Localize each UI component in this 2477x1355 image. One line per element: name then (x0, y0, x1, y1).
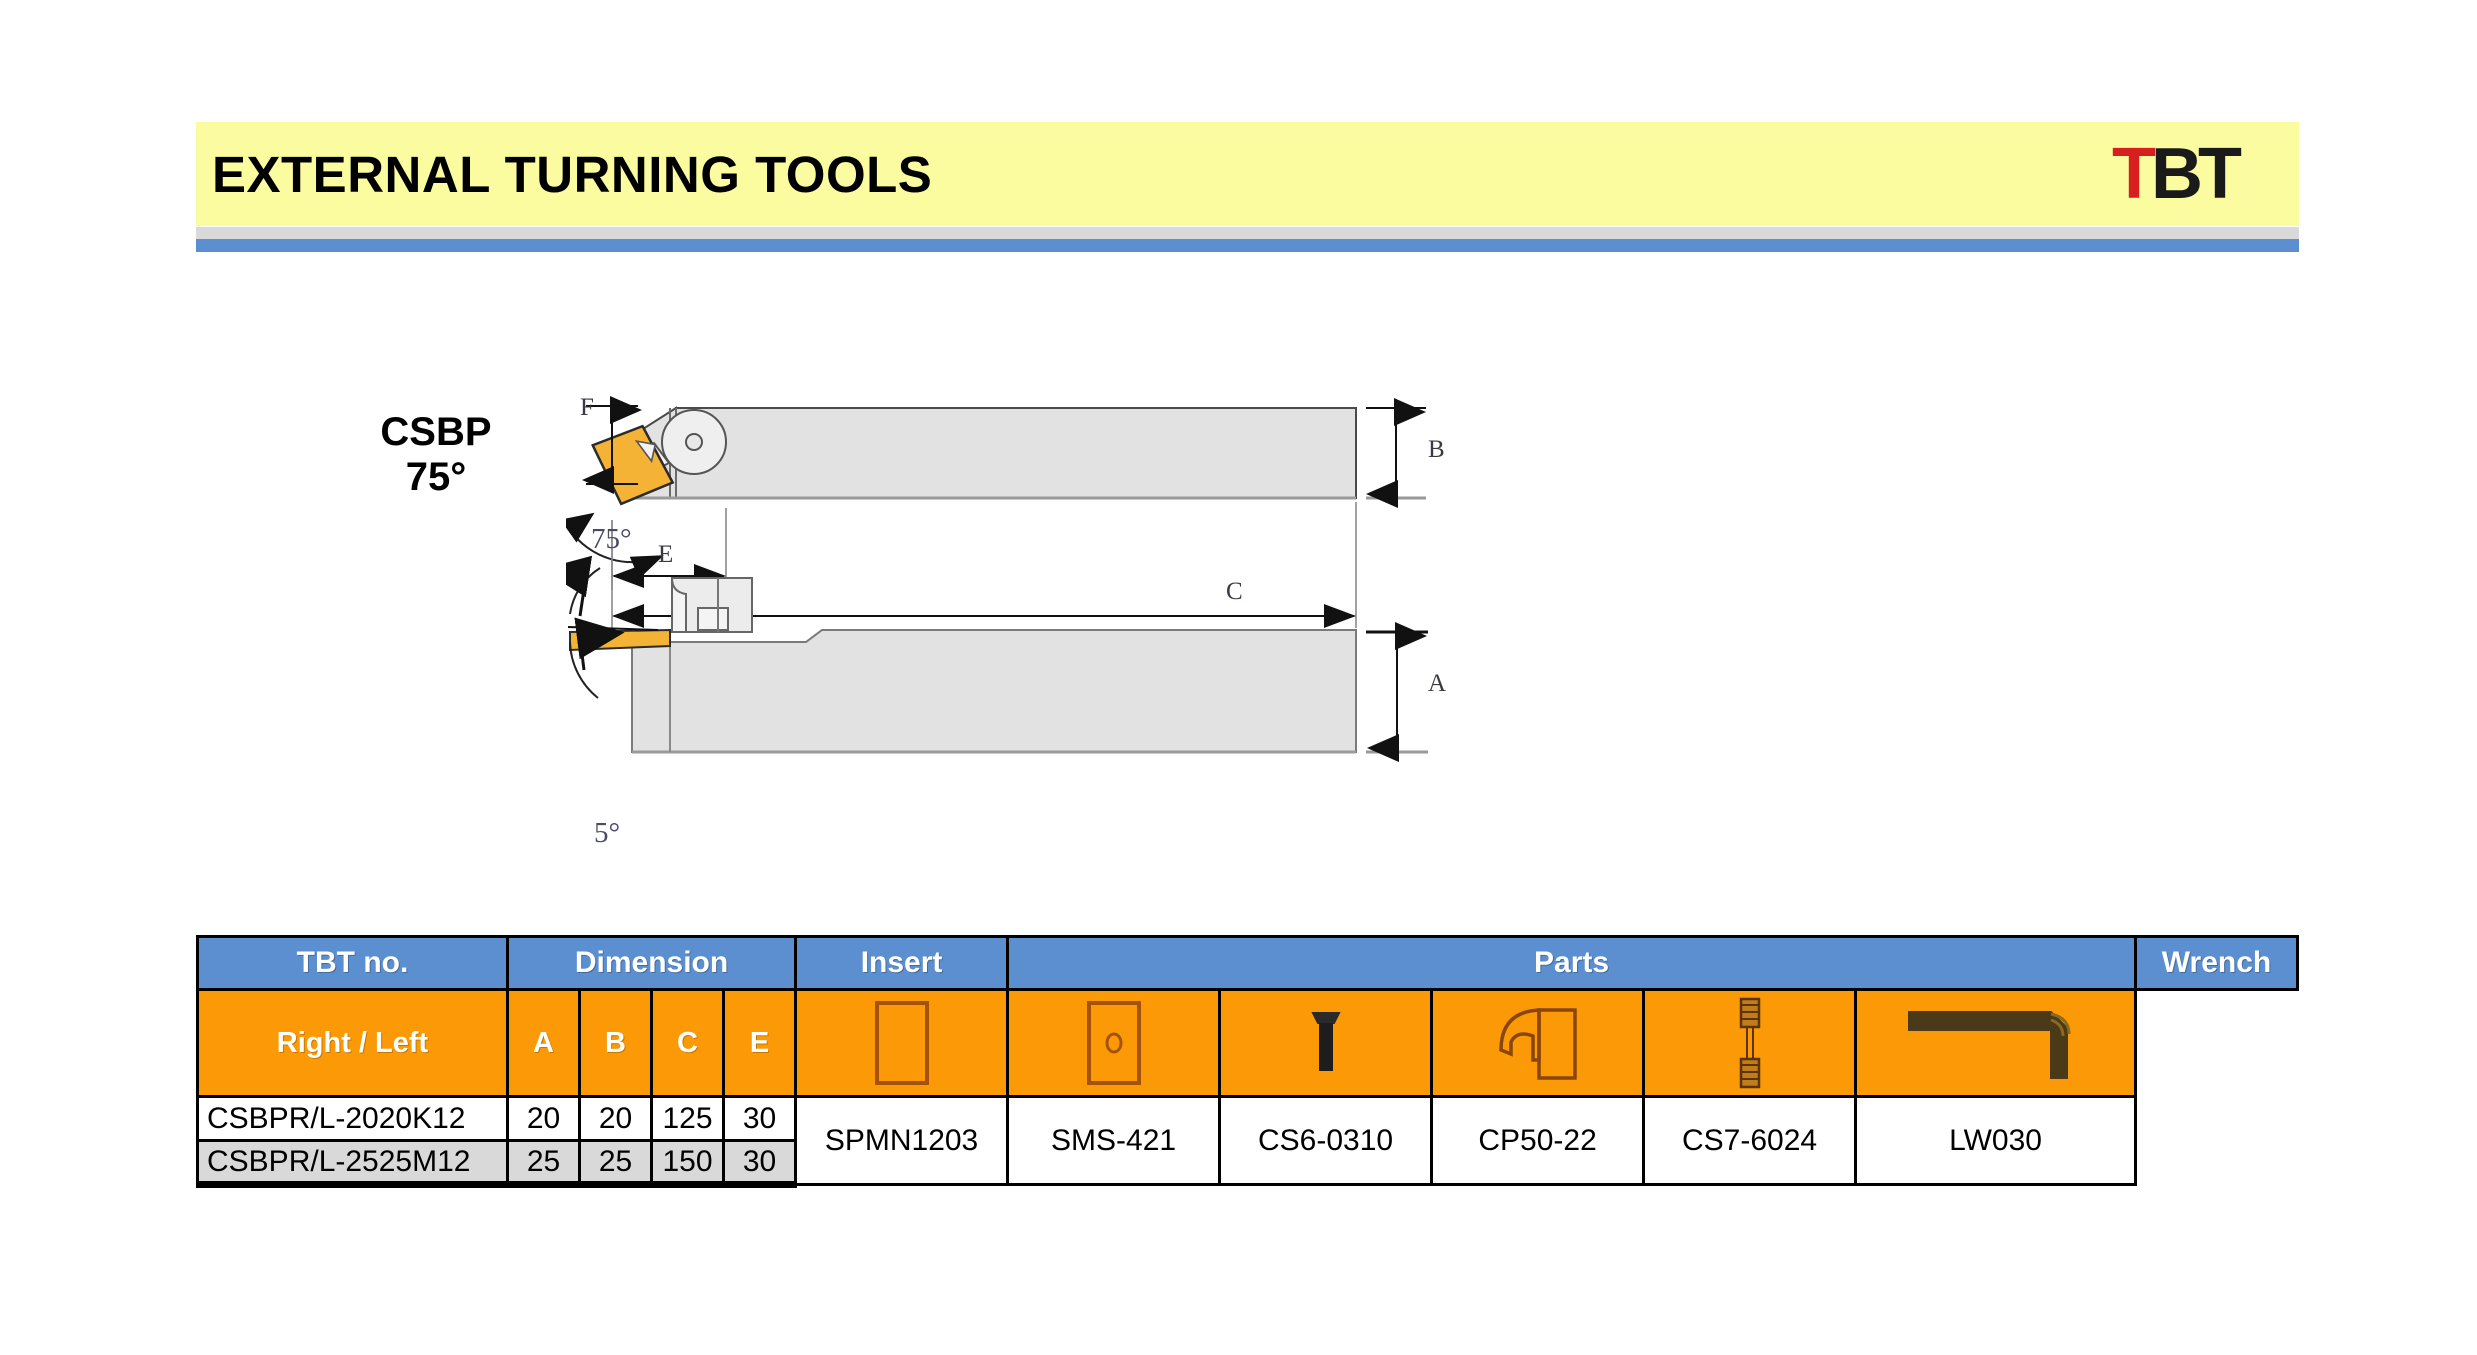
row-dim-b: 25 (580, 1141, 652, 1185)
row-dim-a: 20 (508, 1097, 580, 1141)
header-tbt-no: TBT no. (198, 937, 508, 990)
subheader-dim-b: B (580, 990, 652, 1097)
row-designation: CSBPR/L-2020K12 (198, 1097, 508, 1141)
cell-clamp-screw-code: CS6-0310 (1220, 1097, 1432, 1185)
tool-views-svg (566, 380, 2166, 840)
header-dimension: Dimension (508, 937, 796, 990)
table-group-header-row: TBT no. Dimension Insert Parts Wrench (198, 937, 2298, 990)
cell-insert-code: SPMN1203 (796, 1097, 1008, 1185)
row-dim-e: 30 (724, 1141, 796, 1185)
hex-key-wrench-icon (1857, 995, 2134, 1091)
row-dim-b: 20 (580, 1097, 652, 1141)
row-dim-e: 30 (724, 1097, 796, 1141)
header-insert: Insert (796, 937, 1008, 990)
header-divider-gray (196, 227, 2299, 239)
header-divider-blue (196, 239, 2299, 252)
header-wrench: Wrench (2136, 937, 2298, 990)
insert-square-icon (797, 995, 1006, 1091)
logo-letters-bt: BT (2151, 138, 2237, 210)
clamp-lever-icon-cell (1432, 990, 1644, 1097)
specification-table: TBT no. Dimension Insert Parts Wrench Ri… (196, 935, 2299, 1188)
row-dim-c: 125 (652, 1097, 724, 1141)
angle-label-lead: 75° (591, 523, 632, 556)
family-angle: 75° (306, 455, 566, 500)
clamp-screw-icon (1221, 995, 1430, 1091)
insert-square-icon-cell (796, 990, 1008, 1097)
dim-label-F: F (580, 394, 594, 422)
cell-wrench-code: LW030 (1856, 1097, 2136, 1185)
page-title: EXTERNAL TURNING TOOLS (212, 145, 932, 204)
subheader-dim-e: E (724, 990, 796, 1097)
header-parts: Parts (1008, 937, 2136, 990)
hex-key-wrench-icon-cell (1856, 990, 2136, 1097)
logo-letter-t: T (2112, 138, 2151, 210)
row-dim-c: 150 (652, 1141, 724, 1185)
clamp-lever-icon (1433, 995, 1642, 1091)
stud-screw-icon-cell (1644, 990, 1856, 1097)
shim-square-hole-icon (1009, 995, 1218, 1091)
family-code: CSBP (380, 410, 491, 454)
dim-label-C: C (1226, 578, 1243, 606)
tool-family-label: CSBP 75° (306, 410, 566, 500)
table-row: CSBPR/L-2020K12 20 20 125 30 SPMN1203 SM… (198, 1097, 2298, 1141)
cell-clamp-code: CP50-22 (1432, 1097, 1644, 1185)
subheader-hand: Right / Left (198, 990, 508, 1097)
clamp-screw-icon-cell (1220, 990, 1432, 1097)
subheader-dim-a: A (508, 990, 580, 1097)
cell-stud-code: CS7-6024 (1644, 1097, 1856, 1185)
side-view (568, 568, 1428, 752)
table-sub-header-row: Right / Left A B C E (198, 990, 2298, 1097)
subheader-dim-c: C (652, 990, 724, 1097)
header-banner: EXTERNAL TURNING TOOLS TBT (196, 122, 2299, 226)
dim-label-A: A (1428, 670, 1446, 698)
stud-screw-icon (1645, 995, 1854, 1091)
angle-label-clearance: 5° (594, 817, 620, 850)
tool-drawing: CSBP 75° (196, 380, 2299, 840)
row-dim-a: 25 (508, 1141, 580, 1185)
shim-square-hole-icon-cell (1008, 990, 1220, 1097)
dim-label-E: E (658, 541, 673, 569)
cell-shim-code: SMS-421 (1008, 1097, 1220, 1185)
dim-label-B: B (1428, 436, 1445, 464)
row-designation: CSBPR/L-2525M12 (198, 1141, 508, 1185)
tbt-logo: TBT (2112, 138, 2237, 210)
